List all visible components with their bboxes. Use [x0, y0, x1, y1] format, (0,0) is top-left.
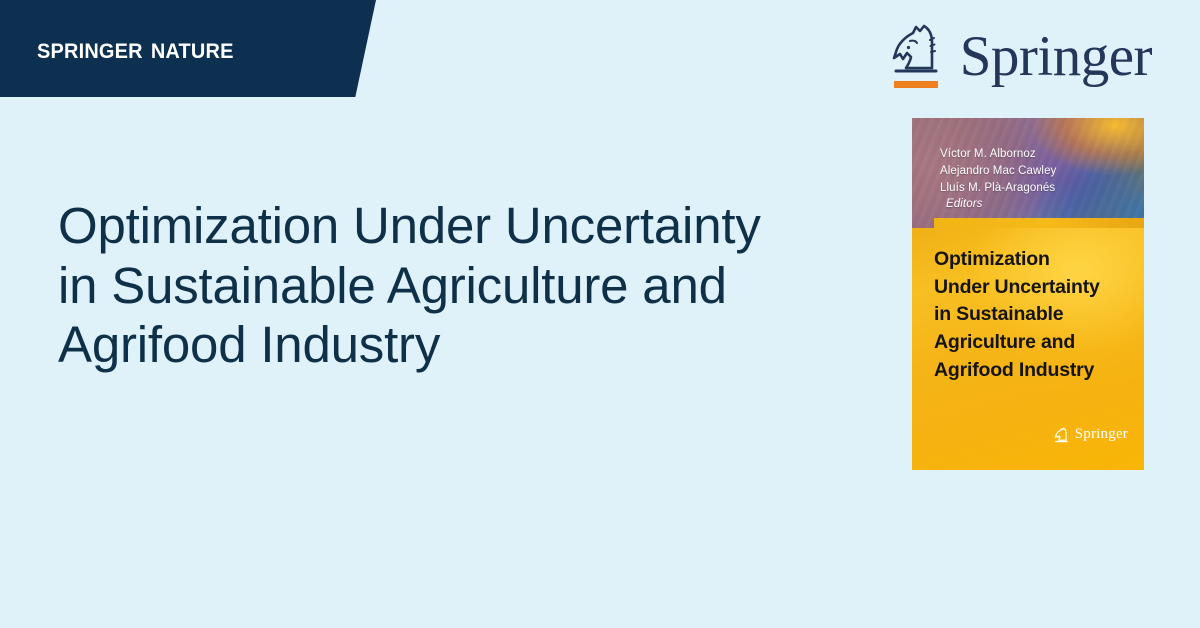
book-cover-title-line-3: in Sustainable: [934, 301, 1132, 329]
book-cover-title-line-2: Under Uncertainty: [934, 274, 1132, 302]
book-cover-title-line-5: Agrifood Industry: [934, 357, 1132, 385]
book-cover: Víctor M. Albornoz Alejandro Mac Cawley …: [912, 118, 1144, 470]
orange-accent-bar: [894, 81, 938, 88]
knight-chess-piece-icon: [886, 18, 946, 90]
page-title-line-3: Agrifood Industry: [58, 315, 858, 375]
book-cover-title: Optimization Under Uncertainty in Sustai…: [934, 246, 1132, 384]
springer-nature-wordmark: Springer Nature: [37, 32, 234, 66]
book-cover-publisher-logo: Springer: [1053, 425, 1128, 444]
book-cover-editors-label: Editors: [940, 198, 983, 210]
promo-banner-page: Springer Nature Springer Optimization Un…: [0, 0, 1200, 628]
springer-wordmark: Springer: [960, 30, 1152, 90]
book-cover-title-line-4: Agriculture and: [934, 329, 1132, 357]
springer-nature-banner: Springer Nature: [0, 0, 376, 97]
book-cover-editor-2: Alejandro Mac Cawley: [940, 163, 1056, 180]
book-cover-editor-3-row: Lluís M. Plà-AragonésEditors: [940, 180, 1056, 214]
book-cover-publisher-name: Springer: [1075, 426, 1128, 443]
page-title-line-2: in Sustainable Agriculture and: [58, 256, 858, 316]
page-title-line-1: Optimization Under Uncertainty: [58, 196, 858, 256]
springer-logo: Springer: [886, 18, 1152, 90]
book-cover-editor-3: Lluís M. Plà-Aragonés: [940, 180, 1056, 197]
book-cover-editors: Víctor M. Albornoz Alejandro Mac Cawley …: [940, 146, 1056, 213]
knight-chess-piece-icon: [1053, 425, 1070, 444]
book-cover-editor-1: Víctor M. Albornoz: [940, 146, 1056, 163]
book-cover-title-line-1: Optimization: [934, 246, 1132, 274]
page-title: Optimization Under Uncertainty in Sustai…: [58, 196, 858, 375]
